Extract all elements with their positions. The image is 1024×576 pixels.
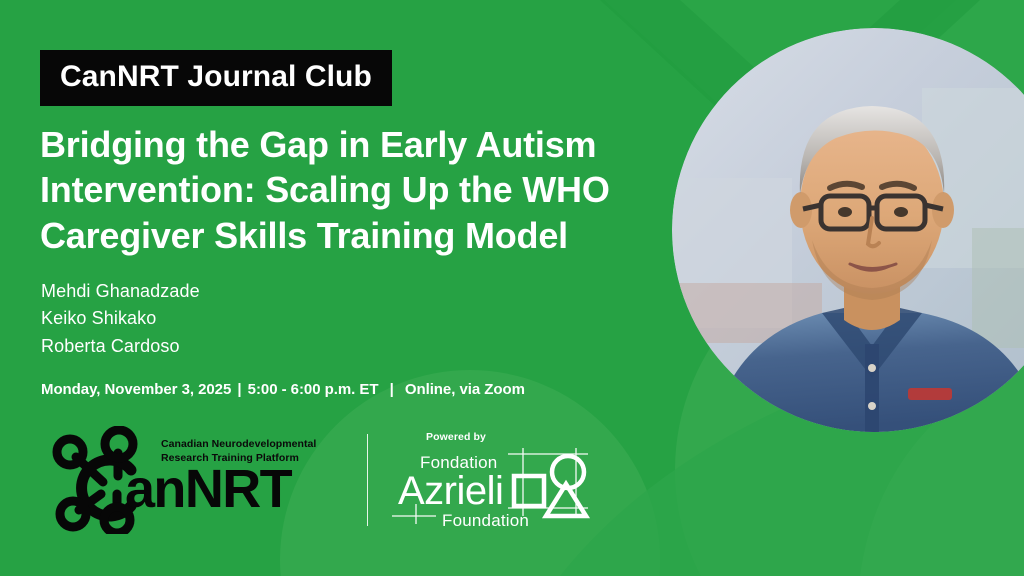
meta-separator-2: | <box>383 381 401 398</box>
speaker-list: Mehdi Ghanadzade Keiko Shikako Roberta C… <box>41 278 200 360</box>
event-date: Monday, November 3, 2025 <box>41 381 231 398</box>
azrieli-line-azrieli: Azrieli <box>398 469 503 513</box>
logo-divider <box>367 434 368 526</box>
cannrt-tagline-line1: Canadian Neurodevelopmental <box>161 438 351 452</box>
poster-content: CanNRT Journal Club Bridging the Gap in … <box>40 0 700 576</box>
azrieli-line-foundation: Foundation <box>442 511 529 530</box>
azrieli-geometric-shapes-mark-icon: Fondation Azrieli Foundation <box>390 446 606 532</box>
event-announcement-poster: CanNRT Journal Club Bridging the Gap in … <box>0 0 1024 576</box>
logo-strip: Canadian Neurodevelopmental Research Tra… <box>43 424 606 536</box>
meta-separator-1: | <box>235 381 243 398</box>
event-time: 5:00 - 6:00 p.m. ET <box>248 381 379 398</box>
event-location: Online, via Zoom <box>405 381 525 398</box>
cannrt-logo: Canadian Neurodevelopmental Research Tra… <box>43 426 285 534</box>
azrieli-logo: Powered by <box>390 426 606 534</box>
list-item: Roberta Cardoso <box>41 333 200 360</box>
cannrt-wordmark: anNRT <box>125 462 291 516</box>
powered-by-label: Powered by <box>426 432 486 443</box>
list-item: Mehdi Ghanadzade <box>41 278 200 305</box>
series-badge: CanNRT Journal Club <box>40 50 392 106</box>
azrieli-square-shape <box>514 476 544 506</box>
list-item: Keiko Shikako <box>41 305 200 332</box>
page-title: Bridging the Gap in Early Autism Interve… <box>40 122 710 258</box>
event-details: Monday, November 3, 2025 | 5:00 - 6:00 p… <box>41 381 525 398</box>
cannrt-wordmark-group: Canadian Neurodevelopmental Research Tra… <box>125 426 285 534</box>
